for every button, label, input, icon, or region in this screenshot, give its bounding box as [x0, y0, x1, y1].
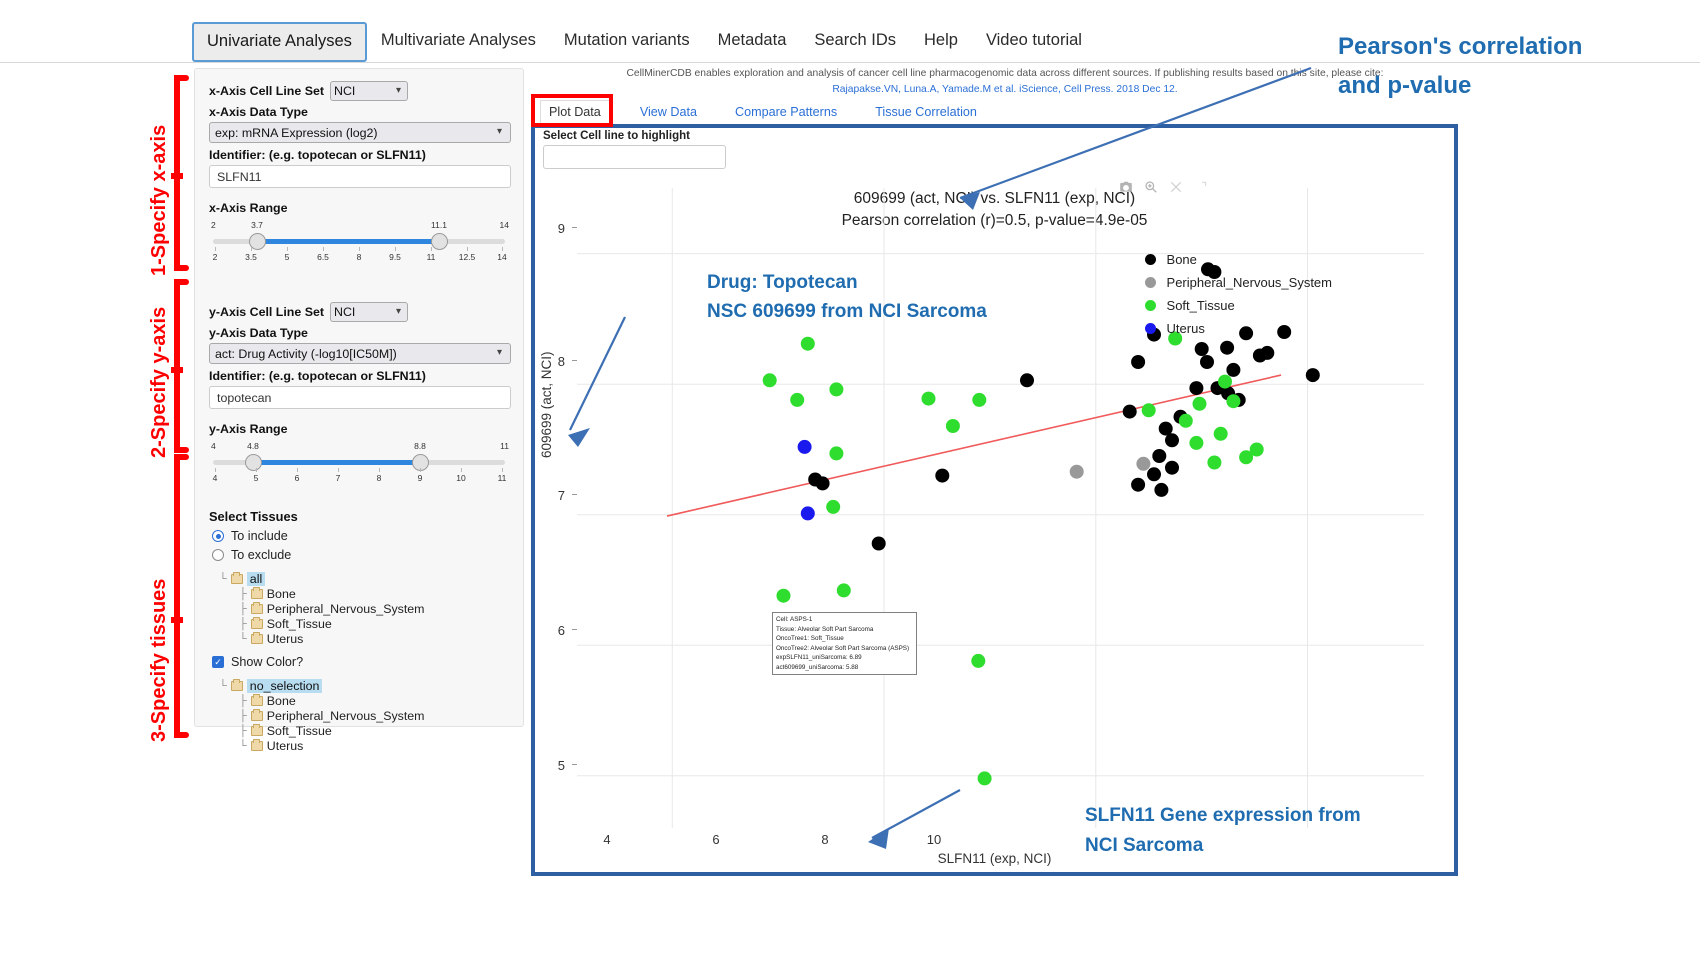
- x-axis-data-type-select[interactable]: exp: mRNA Expression (log2) ▾: [209, 122, 511, 143]
- tree-branch-icon: ├: [239, 603, 247, 615]
- legend-item-soft-tissue[interactable]: Soft_Tissue: [1145, 294, 1332, 317]
- legend-swatch: [1145, 323, 1156, 334]
- y-slider-tick: 10: [456, 473, 465, 483]
- tree-item-soft-tissue-exclude[interactable]: ├ Soft_Tissue: [239, 723, 509, 738]
- point-tooltip: Cell: ASPS-1 Tissue: Alveolar Soft Part …: [772, 612, 917, 675]
- folder-icon: [251, 589, 263, 599]
- nav-divider: [0, 62, 1700, 63]
- tree-root-no-selection-label: no_selection: [247, 679, 323, 693]
- tree-item-label: Peripheral_Nervous_System: [267, 602, 425, 616]
- tree-item-peripheral-nervous-system-exclude[interactable]: ├ Peripheral_Nervous_System: [239, 708, 509, 723]
- tooltip-line: Cell: ASPS-1: [776, 615, 913, 625]
- legend-label: Uterus: [1167, 321, 1205, 336]
- slider-fill: [249, 460, 416, 465]
- tree-expander-icon: └: [219, 680, 227, 692]
- x-axis-identifier-label: Identifier: (e.g. topotecan or SLFN11): [209, 148, 509, 162]
- radio-to-exclude[interactable]: To exclude: [212, 548, 509, 562]
- plot-subtabs: Plot Data View Data Compare Patterns Tis…: [540, 100, 985, 124]
- legend-item-bone[interactable]: Bone: [1145, 248, 1332, 271]
- y-range-max-label: 11: [500, 441, 509, 451]
- x-slider-tick: 8: [357, 252, 362, 262]
- tree-item-label: Peripheral_Nervous_System: [267, 709, 425, 723]
- y-axis-cell-line-set-label: y-Axis Cell Line Set: [209, 305, 324, 319]
- annotation-drug-line2: NSC 609699 from NCI Sarcoma: [707, 301, 987, 323]
- slider-fill: [253, 239, 435, 244]
- subtab-tissue-correlation[interactable]: Tissue Correlation: [867, 101, 985, 123]
- y-slider-tick: 7: [336, 473, 341, 483]
- annotation-slfn11-line1: SLFN11 Gene expression from: [1085, 805, 1361, 827]
- tree-item-bone[interactable]: ├ Bone: [239, 586, 509, 601]
- plot-legend: Bone Peripheral_Nervous_System Soft_Tiss…: [1145, 248, 1332, 340]
- tree-branch-icon: └: [239, 740, 247, 752]
- tree-item-peripheral-nervous-system[interactable]: ├ Peripheral_Nervous_System: [239, 601, 509, 616]
- y-axis-cell-line-set-value: NCI: [330, 302, 408, 322]
- tree-item-label: Uterus: [267, 739, 304, 753]
- x-axis-cell-line-set-label: x-Axis Cell Line Set: [209, 84, 324, 98]
- legend-swatch: [1145, 254, 1156, 265]
- x-range-min-label: 2: [211, 220, 216, 230]
- folder-icon: [251, 711, 263, 721]
- citation-line-1: CellMinerCDB enables exploration and ana…: [540, 66, 1470, 82]
- checkbox-checked-icon: ✓: [212, 656, 224, 668]
- y-axis-data-type-label: y-Axis Data Type: [209, 326, 509, 340]
- tree-branch-icon: ├: [239, 725, 247, 737]
- x-slider-tick: 14: [497, 252, 506, 262]
- tree-item-uterus-exclude[interactable]: └ Uterus: [239, 738, 509, 753]
- tab-univariate-analyses[interactable]: Univariate Analyses: [192, 22, 367, 62]
- y-axis-identifier-input[interactable]: topotecan: [209, 386, 511, 409]
- tab-multivariate-analyses[interactable]: Multivariate Analyses: [367, 22, 550, 62]
- tab-metadata[interactable]: Metadata: [704, 22, 801, 62]
- annotation-pearson-line2: and p-value: [1338, 72, 1471, 100]
- x-range-low-value: 3.7: [251, 220, 263, 230]
- controls-panel: x-Axis Cell Line Set NCI ▾ x-Axis Data T…: [194, 68, 524, 727]
- plot-panel: Select Cell line to highlight 609699 (ac…: [531, 124, 1458, 876]
- legend-item-uterus[interactable]: Uterus: [1145, 317, 1332, 340]
- tooltip-line: OncoTree1: Soft_Tissue: [776, 634, 913, 644]
- x-axis-cell-line-set-row: x-Axis Cell Line Set NCI ▾: [209, 81, 509, 101]
- tab-help[interactable]: Help: [910, 22, 972, 62]
- scatter-plot-canvas[interactable]: [535, 128, 1454, 872]
- tooltip-line: OncoTree2: Alveolar Soft Part Sarcoma (A…: [776, 644, 913, 654]
- y-range-high-value: 8.8: [414, 441, 426, 451]
- y-axis-data-type-value: act: Drug Activity (-log10[IC50M]): [209, 343, 511, 364]
- subtab-compare-patterns[interactable]: Compare Patterns: [727, 101, 845, 123]
- radio-include-label: To include: [231, 529, 288, 543]
- folder-icon: [251, 619, 263, 629]
- annotation-step-3: 3-Specify tissues: [148, 579, 171, 742]
- y-slider-tick: 11: [498, 473, 507, 483]
- annotation-step-2: 2-Specify y-axis: [148, 307, 171, 458]
- y-range-low-handle[interactable]: [245, 454, 262, 471]
- x-slider-tick: 12.5: [459, 252, 476, 262]
- folder-icon: [231, 681, 243, 691]
- y-axis-data-type-select[interactable]: act: Drug Activity (-log10[IC50M]) ▾: [209, 343, 511, 364]
- tree-item-uterus[interactable]: └ Uterus: [239, 631, 509, 646]
- y-slider-tick: 8: [377, 473, 382, 483]
- y-slider-tick: 6: [295, 473, 300, 483]
- tree-item-label: Bone: [267, 694, 296, 708]
- y-axis-range-slider[interactable]: 4 11 4.8 8.8 4 5 6 7 8 9 10 11: [209, 441, 509, 485]
- tree-item-label: Bone: [267, 587, 296, 601]
- tree-root-no-selection[interactable]: └ no_selection: [219, 678, 509, 693]
- main-nav: Univariate Analyses Multivariate Analyse…: [192, 22, 1096, 62]
- x-slider-tick: 9.5: [389, 252, 401, 262]
- folder-icon: [251, 696, 263, 706]
- select-tissues-title: Select Tissues: [209, 509, 509, 524]
- tissue-tree-include: └ all ├ Bone ├ Peripheral_Nervous_System…: [219, 571, 509, 646]
- x-slider-tick: 3.5: [245, 252, 257, 262]
- folder-icon: [251, 741, 263, 751]
- x-axis-data-type-value: exp: mRNA Expression (log2): [209, 122, 511, 143]
- tree-expander-icon: └: [219, 573, 227, 585]
- legend-label: Bone: [1167, 252, 1197, 267]
- tab-mutation-variants[interactable]: Mutation variants: [550, 22, 704, 62]
- folder-icon: [231, 574, 243, 584]
- y-slider-tick: 5: [254, 473, 259, 483]
- x-slider-tick: 5: [285, 252, 290, 262]
- show-color-checkbox[interactable]: ✓ Show Color?: [212, 655, 509, 669]
- folder-icon: [251, 634, 263, 644]
- x-axis-range-label: x-Axis Range: [209, 201, 509, 215]
- y-axis-cell-line-set-row: y-Axis Cell Line Set NCI ▾: [209, 302, 509, 322]
- y-slider-tick: 9: [418, 473, 423, 483]
- tree-item-bone-exclude[interactable]: ├ Bone: [239, 693, 509, 708]
- subtab-plot-data[interactable]: Plot Data: [540, 100, 610, 124]
- x-range-high-value: 11.1: [431, 220, 447, 230]
- x-axis-cell-line-set-select[interactable]: NCI ▾: [330, 81, 408, 101]
- tree-branch-icon: ├: [239, 618, 247, 630]
- show-color-label: Show Color?: [231, 655, 303, 669]
- annotation-pearson-line1: Pearson's correlation: [1338, 33, 1582, 61]
- tissue-tree-exclude: └ no_selection ├ Bone ├ Peripheral_Nervo…: [219, 678, 509, 753]
- annotation-slfn11-line2: NCI Sarcoma: [1085, 835, 1203, 857]
- radio-exclude-label: To exclude: [231, 548, 291, 562]
- y-range-low-value: 4.8: [247, 441, 259, 451]
- x-slider-tick: 11: [427, 252, 436, 262]
- legend-swatch: [1145, 300, 1156, 311]
- tree-root-all-label: all: [247, 572, 265, 586]
- tooltip-line: expSLFN11_uniSarcoma: 6.89: [776, 653, 913, 663]
- tree-branch-icon: ├: [239, 588, 247, 600]
- y-axis-cell-line-set-select[interactable]: NCI ▾: [330, 302, 408, 322]
- tree-branch-icon: ├: [239, 710, 247, 722]
- radio-include-icon: [212, 530, 224, 542]
- tab-video-tutorial[interactable]: Video tutorial: [972, 22, 1096, 62]
- x-axis-data-type-label: x-Axis Data Type: [209, 105, 509, 119]
- folder-icon: [251, 726, 263, 736]
- x-axis-range-slider[interactable]: 2 14 3.7 11.1 2 3.5 5 6.5 8 9.5 11 12.5 …: [209, 220, 509, 264]
- y-range-min-label: 4: [211, 441, 216, 451]
- x-range-high-handle[interactable]: [431, 233, 448, 250]
- tooltip-line: act609699_uniSarcoma: 5.88: [776, 663, 913, 673]
- x-range-max-label: 14: [500, 220, 509, 230]
- x-slider-tick: 6.5: [317, 252, 329, 262]
- legend-swatch: [1145, 277, 1156, 288]
- citation-block: CellMinerCDB enables exploration and ana…: [540, 66, 1470, 98]
- tooltip-line: Tissue: Alveolar Soft Part Sarcoma: [776, 625, 913, 635]
- y-axis-identifier-label: Identifier: (e.g. topotecan or SLFN11): [209, 369, 509, 383]
- x-slider-tick: 2: [213, 252, 218, 262]
- legend-label: Peripheral_Nervous_System: [1167, 275, 1332, 290]
- tree-item-label: Soft_Tissue: [267, 617, 332, 631]
- annotation-step-1: 1-Specify x-axis: [148, 125, 171, 276]
- tree-branch-icon: └: [239, 633, 247, 645]
- subtab-view-data[interactable]: View Data: [632, 101, 705, 123]
- tree-root-all[interactable]: └ all: [219, 571, 509, 586]
- folder-icon: [251, 604, 263, 614]
- citation-link[interactable]: Rajapakse.VN, Luna.A, Yamade.M et al. iS…: [540, 82, 1470, 98]
- legend-label: Soft_Tissue: [1167, 298, 1235, 313]
- legend-item-peripheral-nervous-system[interactable]: Peripheral_Nervous_System: [1145, 271, 1332, 294]
- y-axis-range-label: y-Axis Range: [209, 422, 509, 436]
- tree-item-label: Uterus: [267, 632, 304, 646]
- y-slider-tick: 4: [213, 473, 218, 483]
- radio-exclude-icon: [212, 549, 224, 561]
- tree-item-label: Soft_Tissue: [267, 724, 332, 738]
- x-axis-cell-line-set-value: NCI: [330, 81, 408, 101]
- x-axis-identifier-input[interactable]: SLFN11: [209, 165, 511, 188]
- annotation-drug-line1: Drug: Topotecan: [707, 272, 858, 294]
- radio-to-include[interactable]: To include: [212, 529, 509, 543]
- tab-search-ids[interactable]: Search IDs: [800, 22, 910, 62]
- tree-item-soft-tissue[interactable]: ├ Soft_Tissue: [239, 616, 509, 631]
- tree-branch-icon: ├: [239, 695, 247, 707]
